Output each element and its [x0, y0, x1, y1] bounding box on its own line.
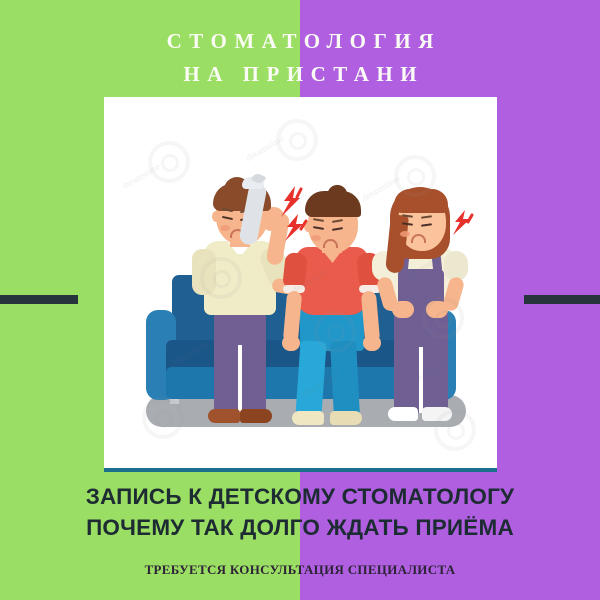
- left-man-ear: [212, 211, 220, 222]
- left-man-leg-gap: [238, 345, 242, 415]
- right-girl-hand-right: [426, 301, 448, 318]
- center-boy-cheek: [311, 235, 321, 241]
- watermark-text: dreamstime: [120, 161, 161, 191]
- watermark-ring: [148, 141, 190, 183]
- left-man-shoe-right: [240, 409, 272, 423]
- watermark-ring: [276, 119, 318, 161]
- center-boy-shoe-left: [292, 411, 324, 425]
- tagline-line-2: ПОЧЕМУ ТАК ДОЛГО ЖДАТЬ ПРИЁМА: [0, 512, 600, 543]
- left-man-sleeve-left: [192, 249, 216, 295]
- poster-subtagline: ТРЕБУЕТСЯ КОНСУЛЬТАЦИЯ СПЕЦИАЛИСТА: [0, 562, 600, 578]
- watermark-text: dreamstime: [244, 133, 285, 163]
- right-girl-hand-left: [392, 301, 414, 318]
- heading-line-1: СТОМАТОЛОГИЯ: [167, 29, 441, 53]
- center-boy-hand-left: [282, 335, 300, 351]
- right-girl-fringe: [394, 189, 448, 213]
- right-girl-shoe-right: [422, 407, 452, 421]
- left-man-shoe-left: [208, 409, 240, 423]
- illustration-photo-card: dreamstime dreamstime dreamstime dreamst…: [104, 97, 497, 470]
- center-boy-leg-right: [330, 340, 360, 417]
- right-girl-cheek: [400, 231, 410, 237]
- illustration-stage: dreamstime dreamstime dreamstime dreamst…: [104, 97, 497, 470]
- tagline-line-1: ЗАПИСЬ К ДЕТСКОМУ СТОМАТОЛОГУ: [86, 484, 515, 509]
- accent-bar-left: [0, 295, 78, 304]
- figure-right-girl: [366, 189, 486, 429]
- poster-heading: СТОМАТОЛОГИЯ НА ПРИСТАНИ: [0, 25, 600, 91]
- center-boy-pain-bolt-icon: [282, 213, 308, 243]
- right-girl-leg-gap: [419, 347, 423, 413]
- right-girl-mouth: [411, 234, 426, 243]
- center-boy-shoe-right: [330, 411, 362, 425]
- heading-line-2: НА ПРИСТАНИ: [0, 58, 600, 91]
- right-girl-shoe-left: [388, 407, 418, 421]
- photo-underline: [104, 468, 497, 472]
- center-boy-mouth: [323, 239, 338, 248]
- center-boy-leg-left: [295, 340, 326, 418]
- left-man-cheek: [220, 225, 230, 231]
- right-girl-pain-bolt-icon: [450, 209, 474, 237]
- poster-tagline: ЗАПИСЬ К ДЕТСКОМУ СТОМАТОЛОГУ ПОЧЕМУ ТАК…: [0, 481, 600, 543]
- poster: СТОМАТОЛОГИЯ НА ПРИСТАНИ: [0, 0, 600, 600]
- accent-bar-right: [524, 295, 600, 304]
